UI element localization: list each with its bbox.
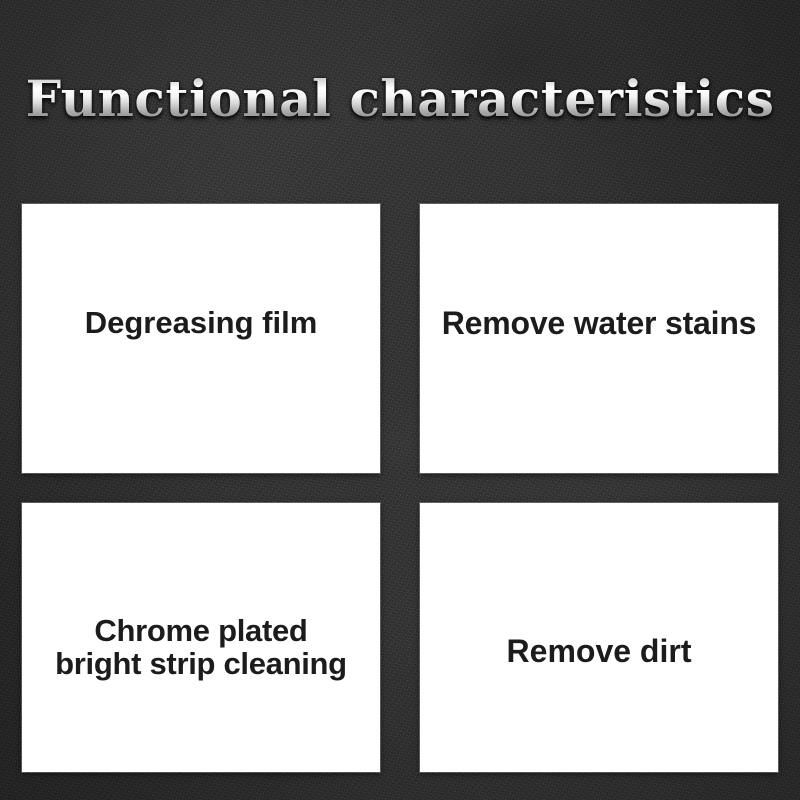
feature-card-degreasing-film[interactable]: Degreasing film [22,204,380,473]
feature-card-label: Chrome plated bright strip cleaning [51,615,351,681]
feature-card-label: Remove dirt [503,635,696,669]
feature-card-label: Degreasing film [81,307,322,340]
feature-card-grid: Degreasing film Remove water stains Chro… [22,204,778,772]
feature-infographic: Functional characteristics Degreasing fi… [0,0,800,800]
feature-card-remove-water-stains[interactable]: Remove water stains [420,204,778,473]
feature-card-remove-dirt[interactable]: Remove dirt [420,503,778,772]
feature-card-label: Remove water stains [438,307,761,341]
feature-card-chrome-plated-cleaning[interactable]: Chrome plated bright strip cleaning [22,503,380,772]
